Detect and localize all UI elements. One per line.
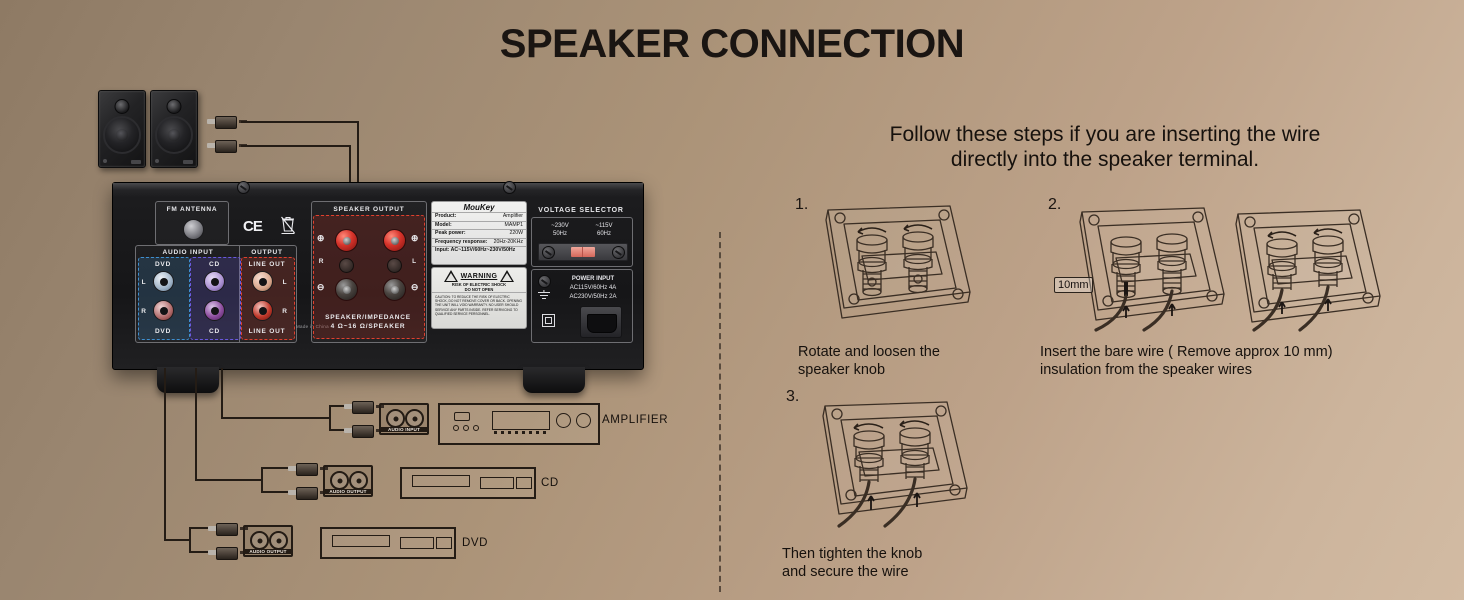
iec-power-socket[interactable]	[580, 306, 622, 338]
step-1-caption: Rotate and loosen the speaker knob	[798, 343, 1028, 379]
rca-plug-icon	[288, 487, 322, 498]
step-2-measure-label: 10mm	[1054, 277, 1093, 293]
callout-jack-right	[269, 531, 288, 550]
woofer-icon	[155, 116, 193, 154]
callout-jack-right	[349, 471, 368, 490]
voltage-option-230v: ~230V 50Hz	[540, 222, 580, 238]
speaker-impedance-line2: 4 Ω~16 Ω/SPEAKER	[313, 323, 423, 330]
dvd-tray	[332, 535, 390, 547]
callout-jack-left	[386, 409, 405, 428]
audio-input-label: AUDIO INPUT	[138, 249, 238, 256]
step-3-caption: Then tighten the knob and secure the wir…	[782, 545, 1042, 581]
cd-top-label: CD	[190, 261, 239, 268]
cd-buttons	[480, 477, 514, 489]
rca-plug-icon	[207, 140, 241, 151]
line-out-bottom-label: LINE OUT	[241, 328, 293, 335]
device-label-dvd: DVD	[462, 537, 488, 549]
line-out-left-jack[interactable]	[252, 271, 273, 292]
speaker-led-icon	[155, 159, 159, 163]
step-1-illustration	[800, 196, 980, 336]
fm-antenna-label: FM ANTENNA	[156, 206, 228, 213]
line-out-left-channel-label: L	[281, 279, 289, 286]
screw-icon	[542, 246, 555, 259]
speaker-brand-badge	[131, 160, 141, 164]
amplifier-audio-input-callout: AUDIO INPUT	[379, 403, 429, 435]
amp-leds	[453, 425, 481, 429]
speaker-terminal-hole-l	[387, 258, 402, 273]
speaker-cabinet	[150, 90, 198, 168]
intro-line-2: directly into the speaker terminal.	[951, 148, 1259, 171]
cd-bottom-label: CD	[190, 328, 239, 335]
spec-value: 20Hz-20KHz	[494, 239, 523, 247]
power-input-line1: AC115V/60Hz 4A	[556, 284, 630, 293]
speaker-output-left-label: L	[410, 258, 419, 265]
voltage-selector-title: VOLTAGE SELECTOR	[531, 207, 631, 214]
intro-line-1: Follow these steps if you are inserting …	[890, 123, 1321, 146]
dvd-left-channel-label: L	[140, 279, 148, 286]
callout-jack-left	[250, 531, 269, 550]
speaker-left	[98, 90, 146, 168]
speaker-brand-badge	[183, 160, 193, 164]
spec-row: Product:Amplifier	[432, 212, 526, 221]
dvd-right-channel-label: R	[140, 308, 148, 315]
woofer-icon	[103, 116, 141, 154]
fm-antenna-connector	[183, 219, 204, 240]
rca-plug-icon	[208, 523, 242, 534]
weee-bin-icon	[280, 215, 296, 235]
device-label-cd: CD	[541, 477, 559, 489]
speaker-output-plus-right: ⊕	[410, 233, 420, 244]
cd-left-jack[interactable]	[204, 271, 225, 292]
step-3-illustration	[795, 390, 980, 535]
page-title: SPEAKER CONNECTION	[0, 22, 1464, 67]
callout-jack-right	[405, 409, 424, 428]
spec-key: Peak power:	[435, 230, 466, 238]
line-out-right-channel-label: R	[281, 308, 289, 315]
dvd-bottom-label: DVD	[138, 328, 188, 335]
spec-row: Model:MAMP1	[432, 221, 526, 230]
voltage-switch-track[interactable]	[538, 243, 628, 261]
warning-subtitle: RISK OF ELECTRIC SHOCK DO NOT OPEN	[432, 282, 526, 292]
dvd-display	[436, 537, 452, 549]
fm-antenna-block: FM ANTENNA	[155, 201, 229, 245]
rca-plug-icon	[344, 425, 378, 436]
screw-icon	[538, 275, 551, 288]
device-label-amplifier: AMPLIFIER	[602, 414, 668, 426]
voltage-option-115v: ~115V 60Hz	[584, 222, 624, 238]
speaker-binding-post-l-positive[interactable]	[383, 229, 406, 252]
voltage-selector-block: ~230V 50Hz ~115V 60Hz	[531, 217, 633, 267]
output-label: OUTPUT	[240, 249, 294, 256]
voltage-115v-line1: ~115V	[595, 223, 612, 229]
warning-triangle-icon	[500, 270, 514, 282]
amp-foot-left	[157, 367, 219, 393]
dvd-top-label: DVD	[138, 261, 188, 268]
ce-mark: CE	[243, 218, 262, 235]
spec-key: Product:	[435, 213, 456, 221]
speaker-terminal-hole-r	[339, 258, 354, 273]
step-2-illustration-b	[1212, 198, 1387, 341]
callout-jack-left	[330, 471, 349, 490]
speaker-output-minus-right: ⊖	[410, 282, 420, 293]
spec-value: Amplifier	[503, 213, 523, 221]
speaker-output-title: SPEAKER OUTPUT	[312, 206, 426, 213]
cd-audio-output-callout: AUDIO OUTPUT	[323, 465, 373, 497]
amp-foot-right	[523, 367, 585, 393]
speaker-led-icon	[103, 159, 107, 163]
cd-tray	[412, 475, 470, 487]
spec-value: 220W	[509, 230, 523, 238]
amp-display-panel	[492, 411, 550, 430]
spec-key: Model:	[435, 222, 452, 230]
cd-display	[516, 477, 532, 489]
spec-value: MAMP1	[505, 222, 523, 230]
callout-label: AUDIO INPUT	[381, 427, 427, 432]
speaker-binding-post-r-positive[interactable]	[335, 229, 358, 252]
rca-plug-icon	[208, 547, 242, 558]
amp-top-edge	[113, 183, 643, 190]
step-3-caption-line-1: Then tighten the knob	[782, 546, 922, 562]
step-2-illustration-a	[1052, 196, 1237, 341]
spec-row: Peak power:220W	[432, 229, 526, 238]
tweeter-icon	[115, 99, 130, 114]
amplifier-rear-panel: FM ANTENNA CE AUDIO INPUT OUTPUT DVD DVD…	[112, 182, 644, 370]
dvd-buttons	[400, 537, 434, 549]
power-input-line2: AC230V/50Hz 2A	[556, 293, 630, 302]
step-2-caption-line-2: insulation from the speaker wires	[1040, 362, 1252, 378]
line-out-top-label: LINE OUT	[241, 261, 293, 268]
section-divider	[719, 232, 721, 592]
step-3-caption-line-2: and secure the wire	[782, 564, 909, 580]
speaker-cabinet	[98, 90, 146, 168]
speaker-impedance-line1: SPEAKER/IMPEDANCE	[313, 314, 423, 321]
dvd-right-jack[interactable]	[153, 300, 174, 321]
speaker-binding-post-r-negative[interactable]	[335, 278, 358, 301]
warning-title: WARNING	[461, 273, 498, 280]
device-dvd	[320, 527, 456, 559]
speaker-right	[150, 90, 198, 168]
class-ii-icon	[542, 314, 555, 327]
callout-label: AUDIO OUTPUT	[325, 489, 371, 494]
speaker-output-minus-left: ⊖	[316, 282, 326, 293]
callout-label: AUDIO OUTPUT	[245, 549, 291, 554]
amp-dot-row	[494, 431, 546, 434]
instructions-intro: Follow these steps if you are inserting …	[840, 122, 1370, 172]
speaker-output-right-label: R	[317, 258, 326, 265]
cd-right-jack[interactable]	[204, 300, 225, 321]
spec-row: Frequency response:20Hz-20KHz	[432, 238, 526, 247]
tweeter-icon	[167, 99, 182, 114]
amp-knob-b	[576, 413, 591, 428]
power-input-title: POWER INPUT	[556, 275, 630, 284]
warning-label: WARNING RISK OF ELECTRIC SHOCK DO NOT OP…	[431, 267, 527, 329]
dvd-audio-output-callout: AUDIO OUTPUT	[243, 525, 293, 557]
speaker-output-plus-left: ⊕	[316, 233, 326, 244]
dvd-left-jack[interactable]	[153, 271, 174, 292]
device-amplifier	[438, 403, 600, 445]
speaker-binding-post-l-negative[interactable]	[383, 278, 406, 301]
spec-input-row: Input: AC~115V/60Hz~230V/50Hz	[432, 246, 526, 255]
step-2-caption-line-1: Insert the bare wire ( Remove approx 10 …	[1040, 344, 1333, 360]
step-2-caption: Insert the bare wire ( Remove approx 10 …	[1040, 343, 1460, 379]
screw-icon	[237, 181, 250, 194]
rca-plug-icon	[207, 116, 241, 127]
amp-knob-a	[556, 413, 571, 428]
amp-slot	[454, 412, 470, 421]
rca-plug-icon	[288, 463, 322, 474]
screw-icon	[503, 181, 516, 194]
power-input-block: POWER INPUT AC115V/60Hz 4A AC230V/50Hz 2…	[531, 269, 633, 343]
step-1-caption-line-2: speaker knob	[798, 362, 885, 378]
wire-speaker-to-amp	[241, 122, 358, 182]
voltage-230v-line1: ~230V	[551, 223, 569, 229]
rca-plug-icon	[344, 401, 378, 412]
voltage-230v-line2: 50Hz	[553, 231, 567, 237]
warning-body: CAUTION: TO REDUCE THE RISK OF ELECTRIC …	[432, 292, 526, 318]
shock-hazard-icon	[444, 270, 458, 282]
screw-icon	[612, 246, 625, 259]
brand-name: MouKey	[432, 202, 526, 212]
step-1-caption-line-1: Rotate and loosen the	[798, 344, 940, 360]
ground-icon	[537, 290, 550, 303]
spec-key: Frequency response:	[435, 239, 487, 247]
voltage-115v-line2: 60Hz	[597, 231, 611, 237]
voltage-switch-slider[interactable]	[571, 247, 595, 257]
device-cd	[400, 467, 536, 499]
line-out-right-jack[interactable]	[252, 300, 273, 321]
specification-label: MouKey Product:Amplifier Model:MAMP1 Pea…	[431, 201, 527, 265]
